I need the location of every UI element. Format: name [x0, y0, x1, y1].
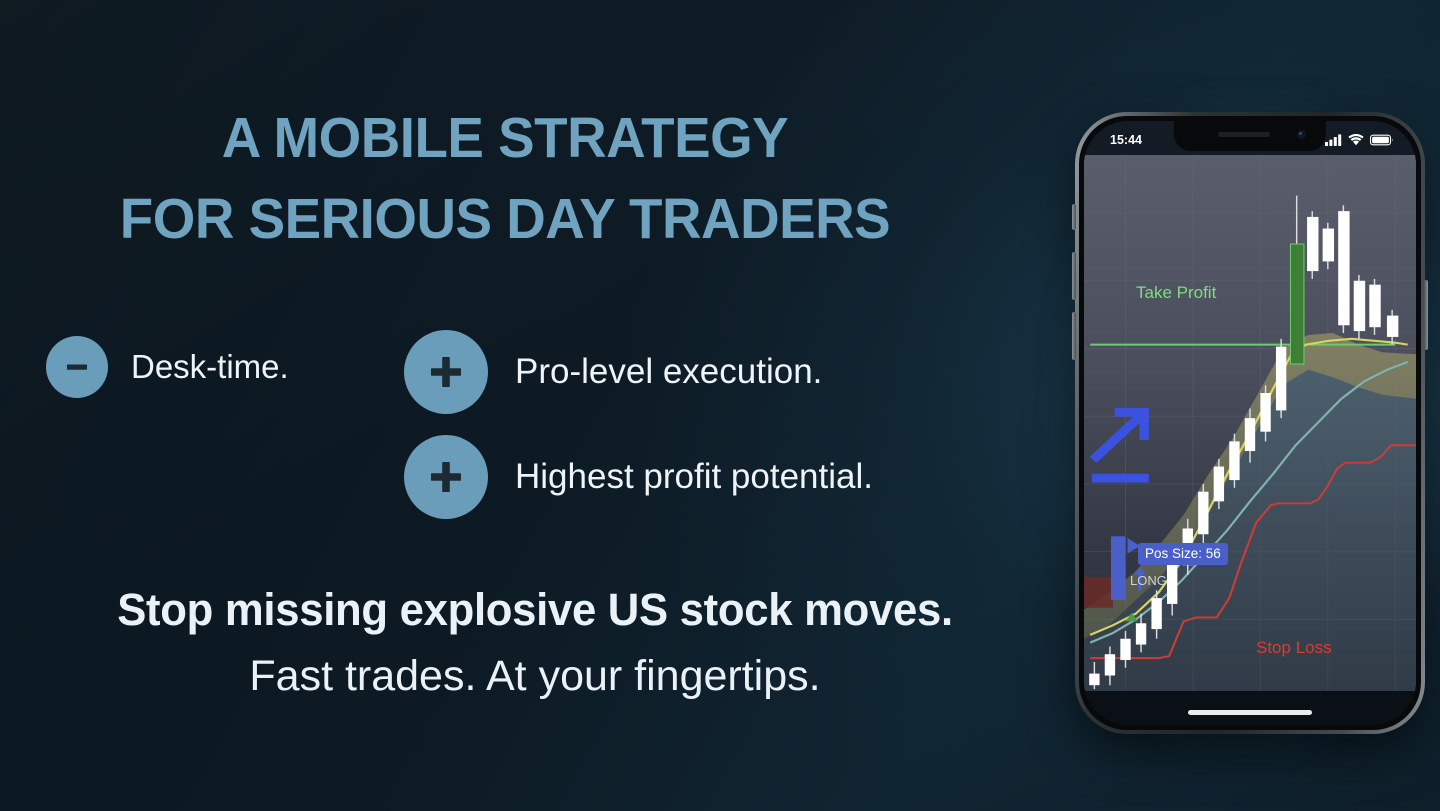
volume-down-button[interactable]: [1072, 312, 1076, 360]
bullet-label-pro-level-execution: Pro-level execution.: [515, 352, 822, 392]
bullet-label-highest-profit-potential: Highest profit potential.: [515, 457, 873, 497]
chart-canvas: [1084, 155, 1416, 691]
wifi-icon: [1348, 134, 1364, 146]
left-content-column: A MOBILE STRATEGY FOR SERIOUS DAY TRADER…: [0, 0, 1060, 811]
headline-line-2: FOR SERIOUS DAY TRADERS: [20, 179, 990, 260]
bullet-item-pro-level-execution: Pro-level execution.: [404, 330, 822, 414]
loss-zone: [1084, 577, 1113, 608]
stop-loss-label: Stop Loss: [1256, 638, 1332, 658]
status-bar-icons: [1325, 134, 1394, 146]
battery-icon: [1370, 134, 1394, 146]
long-direction-label: LONG: [1130, 573, 1167, 588]
tagline: Stop missing explosive US stock moves. F…: [0, 584, 1070, 701]
bullet-item-desk-time: Desk-time.: [46, 336, 289, 398]
front-camera-icon: [1297, 130, 1306, 139]
plus-icon: [404, 435, 488, 519]
phone-frame: 15:44: [1075, 112, 1425, 734]
page-title: A MOBILE STRATEGY FOR SERIOUS DAY TRADER…: [20, 98, 990, 260]
volume-up-button[interactable]: [1072, 252, 1076, 300]
home-indicator[interactable]: [1188, 710, 1312, 715]
phone-bezel: 15:44: [1079, 116, 1421, 730]
minus-icon: [46, 336, 108, 398]
earpiece-speaker: [1218, 132, 1270, 137]
position-size-badge[interactable]: Pos Size: 56: [1138, 543, 1228, 565]
trading-chart[interactable]: Take Profit Stop Loss LONG Pos Size: 56: [1084, 155, 1416, 691]
entry-position-bar: [1111, 536, 1126, 600]
phone-mockup: 15:44: [1075, 112, 1425, 734]
plus-icon: [404, 330, 488, 414]
headline-line-1: A MOBILE STRATEGY: [222, 106, 788, 170]
tagline-line-1: Stop missing explosive US stock moves.: [16, 584, 1054, 636]
cellular-signal-icon: [1325, 134, 1342, 146]
bullet-item-highest-profit-potential: Highest profit potential.: [404, 435, 873, 519]
status-bar-time: 15:44: [1110, 133, 1142, 147]
mute-switch[interactable]: [1072, 204, 1076, 230]
tagline-line-2: Fast trades. At your fingertips.: [0, 652, 1070, 701]
screen-bottom-bar: [1084, 691, 1416, 725]
take-profit-label: Take Profit: [1136, 283, 1216, 303]
power-button[interactable]: [1424, 280, 1428, 350]
notch: [1174, 121, 1326, 151]
breakout-candle: [1290, 244, 1303, 364]
bullet-label-desk-time: Desk-time.: [131, 348, 289, 386]
phone-screen: 15:44: [1084, 121, 1416, 725]
